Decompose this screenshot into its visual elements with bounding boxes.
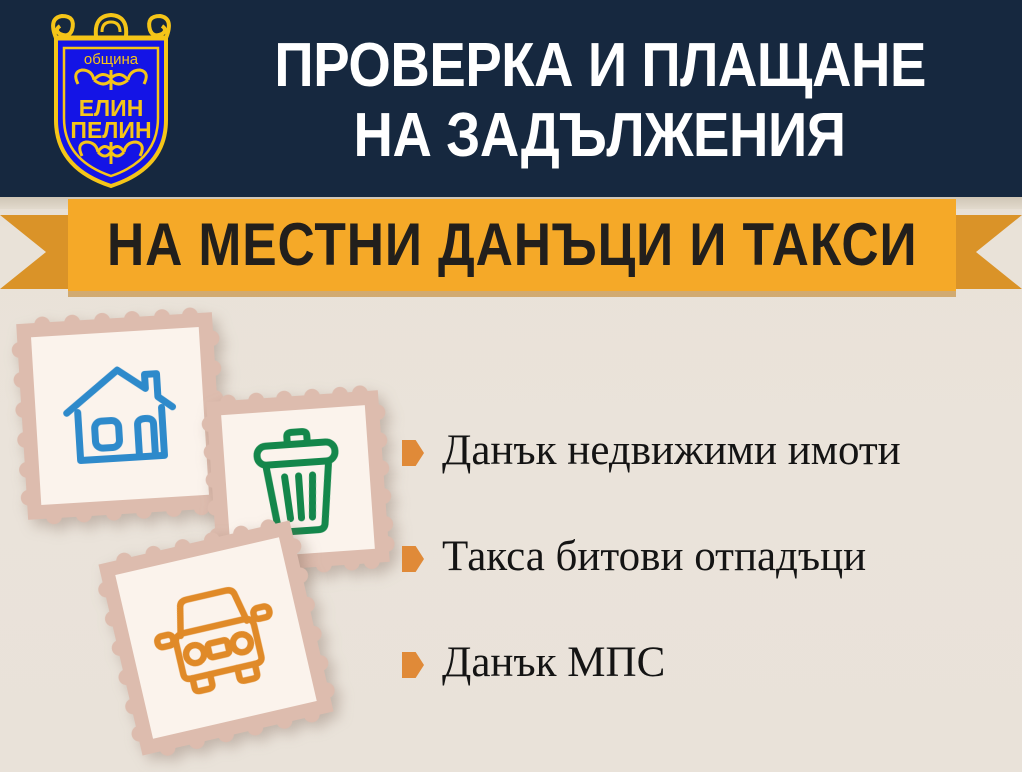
car-icon xyxy=(143,571,288,704)
arrow-bullet-icon xyxy=(402,652,424,678)
stamp-paper-property xyxy=(31,327,209,505)
list-item-label: Такса битови отпадъци xyxy=(442,533,866,581)
stamp-paper-vehicle xyxy=(115,537,316,738)
list-item-label: Данък недвижими имоти xyxy=(442,427,901,475)
header-bar: община ЕЛИН ПЕЛИН ПРОВЕРКА И ПЛАЩАНЕ НА … xyxy=(0,0,1022,197)
logo-text-obshtina: община xyxy=(84,51,139,68)
subtitle-ribbon: НА МЕСТНИ ДАНЪЦИ И ТАКСИ xyxy=(0,197,1022,307)
tax-type-list: Данък недвижими имоти Такса битови отпад… xyxy=(402,424,1002,742)
arrow-bullet-icon xyxy=(402,440,424,466)
poster-canvas: община ЕЛИН ПЕЛИН ПРОВЕРКА И ПЛАЩАНЕ НА … xyxy=(0,0,1022,772)
house-icon xyxy=(58,357,183,476)
ribbon-band: НА МЕСТНИ ДАНЪЦИ И ТАКСИ xyxy=(68,199,956,291)
list-item: Такса битови отпадъци xyxy=(402,530,1002,584)
list-item: Данък МПС xyxy=(402,636,1002,690)
list-item-label: Данък МПС xyxy=(442,639,665,687)
arrow-bullet-icon xyxy=(402,546,424,572)
municipality-logo: община ЕЛИН ПЕЛИН xyxy=(38,8,184,190)
list-item: Данък недвижими имоти xyxy=(402,424,1002,478)
ribbon-label: НА МЕСТНИ ДАНЪЦИ И ТАКСИ xyxy=(107,214,917,276)
page-title: ПРОВЕРКА И ПЛАЩАНЕ НА ЗАДЪЛЖЕНИЯ xyxy=(190,16,1010,186)
page-title-line-2: НА ЗАДЪЛЖЕНИЯ xyxy=(354,101,846,171)
page-title-line-1: ПРОВЕРКА И ПЛАЩАНЕ xyxy=(274,31,926,101)
stamp-card-property xyxy=(16,312,224,520)
logo-text-pelin: ПЕЛИН xyxy=(70,117,151,143)
